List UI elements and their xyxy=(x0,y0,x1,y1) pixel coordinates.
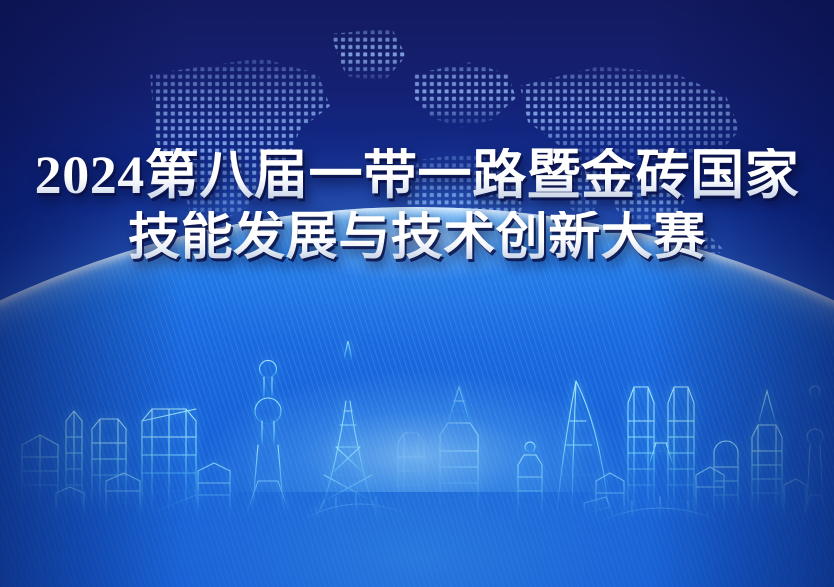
poster-canvas: 2024第八届一带一路暨金砖国家 技能发展与技术创新大赛 xyxy=(0,0,834,587)
edge-vignette xyxy=(0,0,834,587)
